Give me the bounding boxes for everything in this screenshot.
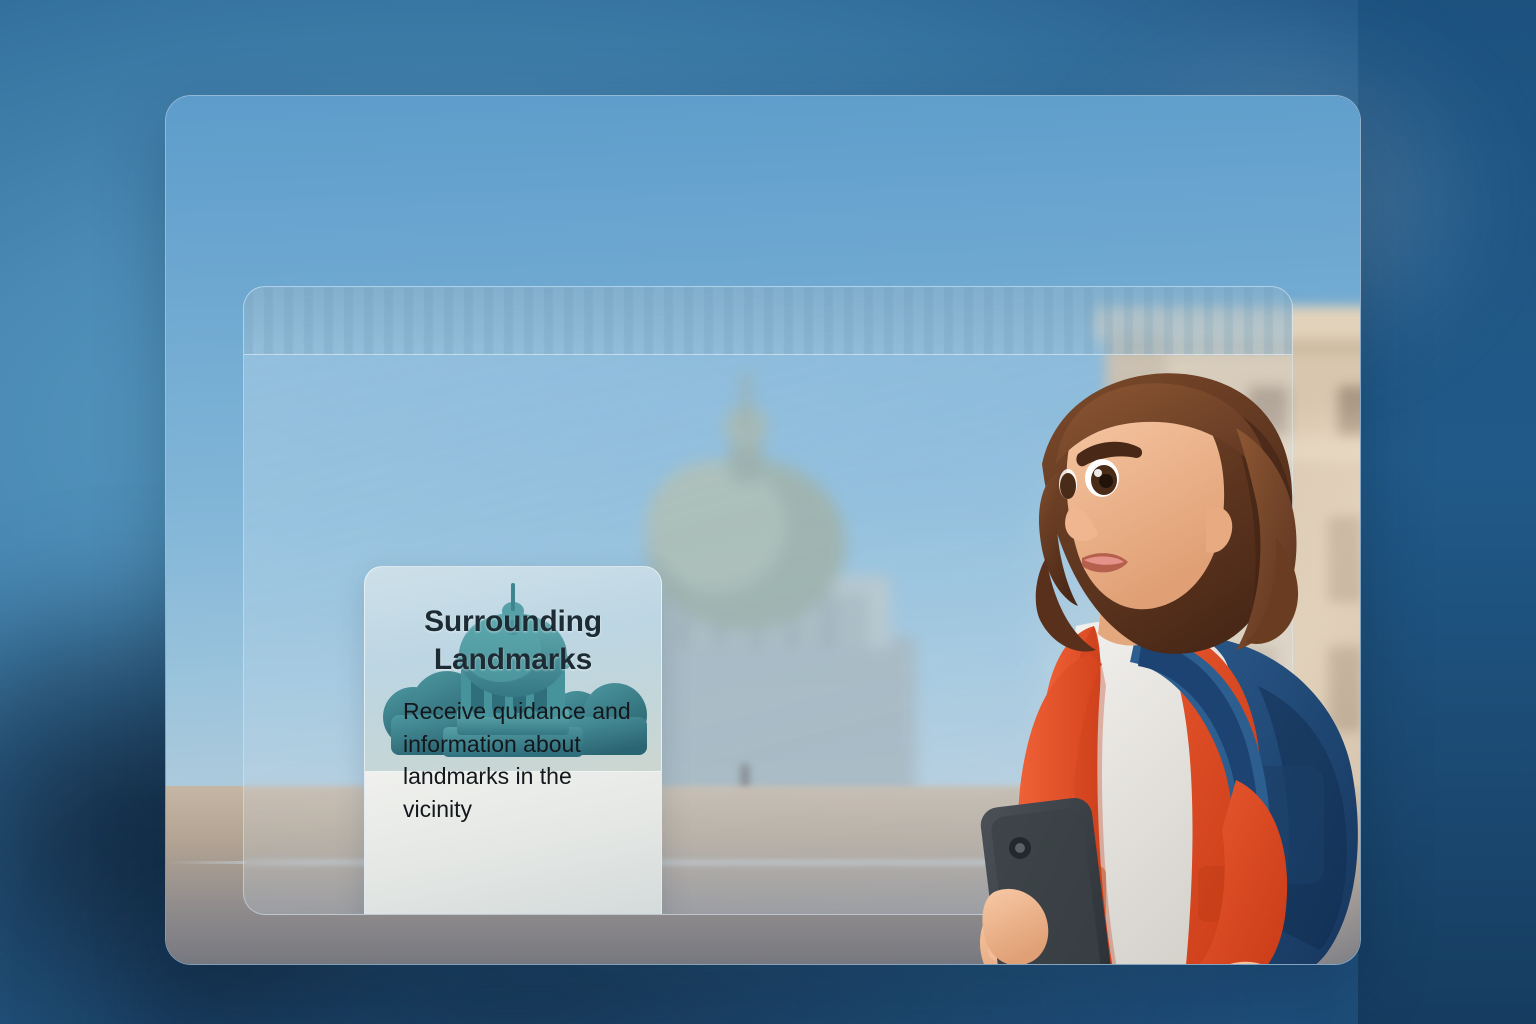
suggestion-card[interactable]: Surrounding Landmarks Receive quidance a… xyxy=(364,566,662,915)
screenshot-root: AR SUGGESTIONS xyxy=(0,0,1536,1024)
panel-stripe-edge xyxy=(244,354,1292,355)
character-woman-with-phone xyxy=(806,368,1361,965)
glass-panel-outer: Surrounding Landmarks Receive quidance a… xyxy=(165,95,1361,965)
card-title: Surrounding Landmarks xyxy=(381,603,645,678)
panel-stripe-band xyxy=(244,287,1292,355)
card-description: Receive quidance and information about l… xyxy=(403,695,635,826)
